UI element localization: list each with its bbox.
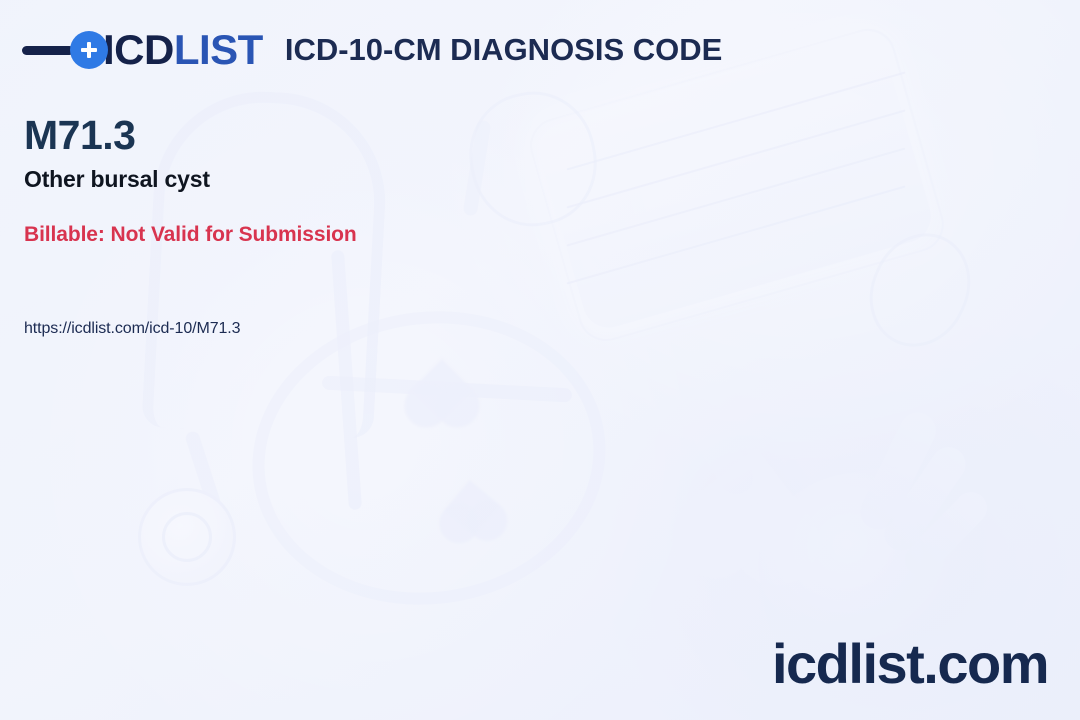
logo-text-list: LIST <box>174 26 263 74</box>
diagnosis-description: Other bursal cyst <box>24 166 210 193</box>
logo-text-icd: ICD <box>103 26 174 74</box>
stethoscope-chestpiece-inner <box>162 512 212 562</box>
diagnosis-code-card: ICD LIST ICD-10-CM DIAGNOSIS CODE M71.3 … <box>0 0 1080 720</box>
face-mask-pleat <box>567 72 906 171</box>
dash-icon <box>22 46 74 55</box>
background-artwork <box>0 0 1080 720</box>
page-header: ICD LIST ICD-10-CM DIAGNOSIS CODE <box>22 26 722 74</box>
plus-icon <box>70 31 108 69</box>
photo-wash <box>0 0 1080 720</box>
hand-thumb <box>674 391 760 501</box>
stethoscope-tube-icon <box>322 375 572 402</box>
stethoscope-loop-icon <box>233 289 624 627</box>
paper-heart-icon <box>444 480 500 536</box>
stethoscope-chestpiece-icon <box>138 488 236 586</box>
stethoscope-earpiece <box>463 119 492 216</box>
face-mask-pleat <box>567 186 906 285</box>
face-mask-ear-loop <box>457 80 608 237</box>
brand-watermark: icdlist.com <box>772 631 1048 696</box>
stethoscope-tube-icon <box>141 86 391 439</box>
hand-finger <box>898 485 993 582</box>
billable-status-badge: Billable: Not Valid for Submission <box>24 223 357 247</box>
paper-heart-icon <box>411 359 473 421</box>
paper-heart-shadow <box>672 432 822 582</box>
hand-finger <box>878 441 972 558</box>
face-mask-pleat <box>567 110 906 209</box>
face-mask-ear-loop <box>853 217 988 362</box>
face-mask-icon <box>533 32 937 333</box>
source-url[interactable]: https://icdlist.com/icd-10/M71.3 <box>24 320 240 338</box>
stethoscope-stem <box>184 430 222 510</box>
paper-heart-icon <box>689 449 810 570</box>
face-mask-pleat <box>567 148 906 247</box>
stethoscope-tube-icon <box>331 250 362 510</box>
icdlist-logo[interactable]: ICD LIST <box>22 26 263 74</box>
diagnosis-code: M71.3 <box>24 112 135 159</box>
page-title: ICD-10-CM DIAGNOSIS CODE <box>285 32 722 68</box>
hand-finger <box>854 406 942 535</box>
fade-overlay <box>0 0 1080 720</box>
